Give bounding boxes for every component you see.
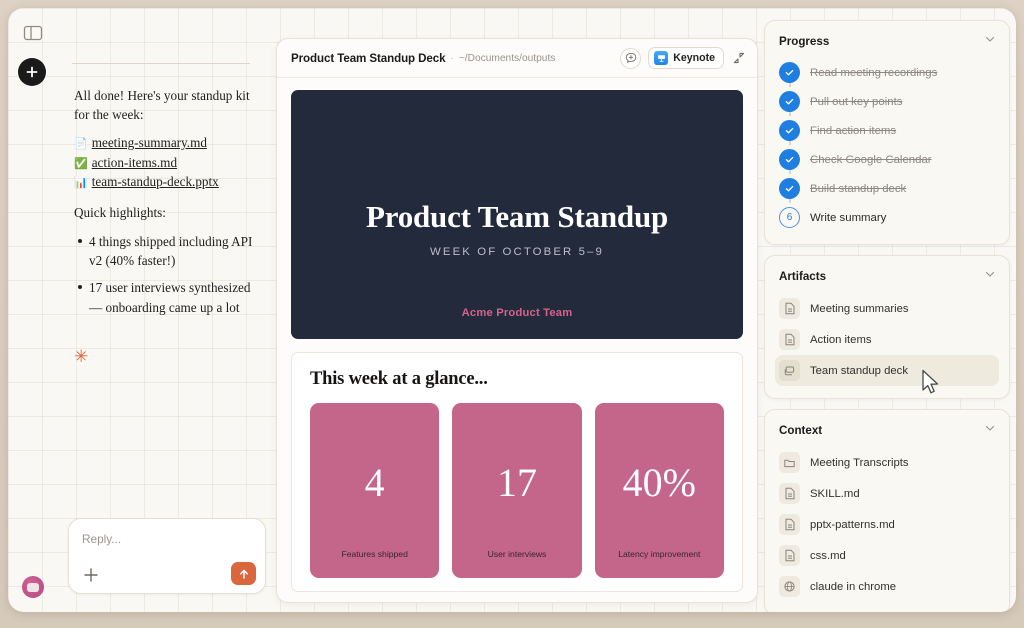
app-window: All done! Here's your standup kit for th… [8,8,1016,612]
context-item-skill-md[interactable]: SKILL.md [775,478,999,509]
message-divider [72,63,250,64]
progress-item-label: Write summary [810,212,886,224]
progress-item-label: Read meeting recordings [810,67,937,79]
context-label: SKILL.md [810,488,860,500]
context-item-pptx-patterns-md[interactable]: pptx-patterns.md [775,509,999,540]
collapse-icon[interactable] [731,50,747,66]
list-item[interactable]: ✅ action-items.md [74,154,260,173]
file-link-action-items[interactable]: action-items.md [92,154,177,173]
document-header-actions: Keynote [620,47,747,69]
check-emoji-icon: ✅ [74,157,88,173]
message-intro: All done! Here's your standup kit for th… [74,86,260,124]
list-item: 17 user interviews synthesized — onboard… [74,278,260,316]
assistant-message: All done! Here's your standup kit for th… [74,86,260,325]
chevron-down-icon[interactable] [984,267,996,285]
list-item[interactable]: 📄 meeting-summary.md [74,134,260,153]
chevron-down-icon[interactable] [984,421,996,439]
progress-item-label: Pull out key points [810,96,902,108]
slide-footer-text: Acme Product Team [462,307,573,319]
document-icon [779,545,800,566]
keynote-icon [654,51,668,65]
artifact-item-meeting-summaries[interactable]: Meeting summaries [775,293,999,324]
panel-title: Progress [779,35,829,48]
progress-item-build-standup-deck[interactable]: Build standup deck [775,174,999,203]
bar-chart-emoji-icon: 📊 [74,176,88,192]
list-item[interactable]: 📊 team-standup-deck.pptx [74,173,260,192]
stat-card-features-shipped: 4 Features shipped [310,403,439,578]
document-emoji-icon: 📄 [74,137,88,153]
artifacts-panel-header[interactable]: Artifacts [775,267,999,285]
progress-item-write-summary[interactable]: 6 Write summary [775,203,999,232]
highlights-list: 4 things shipped including API v2 (40% f… [74,232,260,317]
progress-item-label: Check Google Calendar [810,154,932,166]
progress-item-label: Find action items [810,125,896,137]
check-icon [779,149,800,170]
avatar-face [27,583,39,592]
folder-icon [779,452,800,473]
artifact-item-team-standup-deck[interactable]: Team standup deck [775,355,999,386]
stat-card-user-interviews: 17 User interviews [452,403,581,578]
artifact-label: Action items [810,334,872,346]
send-button[interactable] [231,562,256,585]
context-panel-header[interactable]: Context [775,421,999,439]
context-label: css.md [810,550,846,562]
reply-composer [68,518,266,594]
plus-icon[interactable] [83,567,99,583]
highlights-heading: Quick highlights: [74,203,260,222]
document-header: Product Team Standup Deck · ~/Documents/… [277,39,757,78]
avatar[interactable] [22,576,44,598]
list-item: 4 things shipped including API v2 (40% f… [74,232,260,270]
left-rail [8,8,60,612]
stat-card-latency-improvement: 40% Latency improvement [595,403,724,578]
context-label: pptx-patterns.md [810,519,895,531]
step-number-badge: 6 [779,207,800,228]
stat-label: Features shipped [310,549,439,559]
check-icon [779,62,800,83]
panel-title: Artifacts [779,270,826,283]
progress-item-check-google-calendar[interactable]: Check Google Calendar [775,145,999,174]
conversation-column: All done! Here's your standup kit for th… [60,8,275,612]
document-icon [779,483,800,504]
stats-row: 4 Features shipped 17 User interviews 40… [310,403,724,578]
artifact-item-action-items[interactable]: Action items [775,324,999,355]
progress-panel: Progress Read meeting recordings [764,20,1010,245]
slides-area: Product Team Standup WEEK OF OCTOBER 5–9… [277,78,757,603]
slide-subtitle-text: WEEK OF OCTOBER 5–9 [430,246,604,258]
progress-list: Read meeting recordings Pull out key poi… [775,58,999,232]
sidebar-toggle-icon[interactable] [22,23,44,43]
right-sidebar: Progress Read meeting recordings [764,20,1010,612]
progress-panel-header[interactable]: Progress [775,32,999,50]
slide-stats[interactable]: This week at a glance... 4 Features ship… [291,352,743,592]
check-icon [779,120,800,141]
new-chat-button[interactable] [18,58,46,86]
stat-label: Latency improvement [595,549,724,559]
document-icon [779,329,800,350]
context-item-meeting-transcripts[interactable]: Meeting Transcripts [775,447,999,478]
context-label: claude in chrome [810,581,896,593]
stat-value: 17 [497,463,537,503]
context-label: Meeting Transcripts [810,457,909,469]
context-panel: Context Meeting Transcripts [764,409,1010,612]
artifact-label: Meeting summaries [810,303,909,315]
check-icon [779,178,800,199]
slide-title[interactable]: Product Team Standup WEEK OF OCTOBER 5–9… [291,90,743,339]
document-icon [779,514,800,535]
stat-value: 4 [365,463,385,503]
desktop-background: All done! Here's your standup kit for th… [0,0,1024,628]
open-in-keynote-button[interactable]: Keynote [648,47,724,69]
progress-item-read-meeting-recordings[interactable]: Read meeting recordings [775,58,999,87]
panel-title: Context [779,424,822,437]
document-title: Product Team Standup Deck [291,52,445,65]
globe-icon [779,576,800,597]
chevron-down-icon[interactable] [984,32,996,50]
check-icon [779,91,800,112]
slides-icon [779,360,800,381]
add-comment-button[interactable] [620,48,641,69]
stat-value: 40% [623,463,696,503]
artifacts-panel: Artifacts Meetin [764,255,1010,399]
file-link-list: 📄 meeting-summary.md ✅ action-items.md 📊… [74,134,260,192]
document-panel: Product Team Standup Deck · ~/Documents/… [276,38,758,603]
stats-heading: This week at a glance... [310,369,724,390]
progress-item-label: Build standup deck [810,183,906,195]
keynote-label: Keynote [673,52,715,64]
document-path: ~/Documents/outputs [459,53,556,64]
comment-plus-icon [625,52,637,64]
file-link-team-standup-deck[interactable]: team-standup-deck.pptx [92,173,219,192]
stat-label: User interviews [452,549,581,559]
title-separator: · [450,53,453,64]
context-item-css-md[interactable]: css.md [775,540,999,571]
slide-title-text: Product Team Standup [366,199,668,235]
progress-item-pull-out-key-points[interactable]: Pull out key points [775,87,999,116]
arrow-up-icon [238,568,250,580]
artifact-label: Team standup deck [810,365,908,377]
sparkle-emoji-icon: ✳ [74,348,88,365]
progress-item-find-action-items[interactable]: Find action items [775,116,999,145]
reply-input[interactable] [82,532,242,546]
file-link-meeting-summary[interactable]: meeting-summary.md [92,134,207,153]
document-icon [779,298,800,319]
context-item-claude-in-chrome[interactable]: claude in chrome [775,571,999,602]
